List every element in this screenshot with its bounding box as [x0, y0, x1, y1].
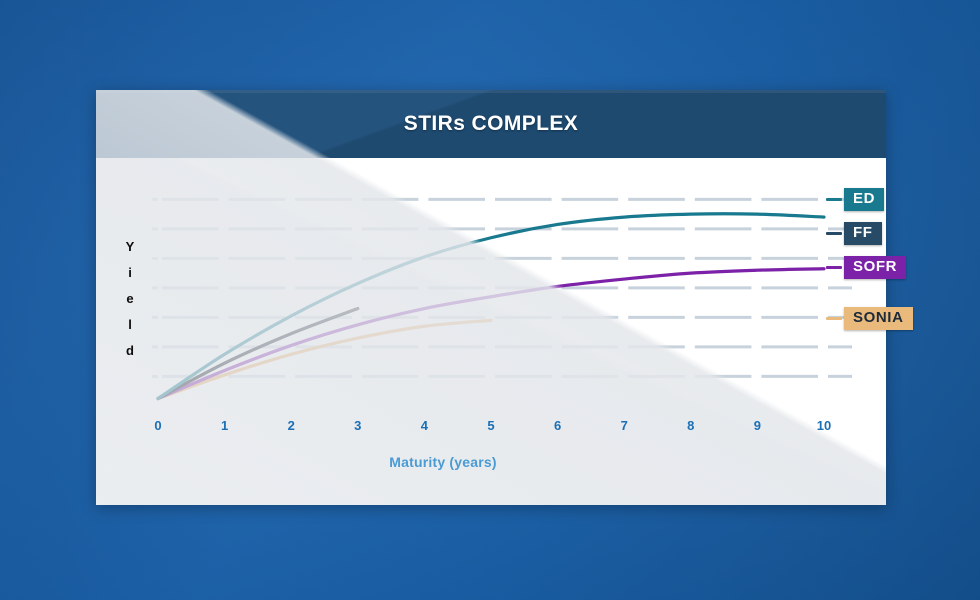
legend-swatch-sonia [826, 317, 842, 320]
x-tick-4: 4 [421, 418, 428, 433]
legend-swatch-ff [826, 232, 842, 235]
legend-item-ff[interactable]: FF [826, 222, 882, 245]
series-lines [158, 214, 824, 399]
legend-item-sofr[interactable]: SOFR [826, 256, 906, 279]
legend-label-sonia: SONIA [844, 307, 913, 330]
series-line-ed [158, 214, 824, 399]
y-axis-letter-4: d [126, 344, 134, 357]
y-axis-letter-3: l [128, 318, 132, 331]
legend-item-ed[interactable]: ED [826, 188, 884, 211]
legend-label-ed: ED [844, 188, 884, 211]
x-tick-8: 8 [687, 418, 694, 433]
x-tick-1: 1 [221, 418, 228, 433]
chart-card: STIRs COMPLEX [96, 90, 886, 505]
legend-label-sofr: SOFR [844, 256, 906, 279]
legend-item-sonia[interactable]: SONIA [826, 307, 913, 330]
y-axis-letter-1: i [128, 266, 132, 279]
x-tick-3: 3 [354, 418, 361, 433]
legend-swatch-sofr [826, 266, 842, 269]
x-axis-tick-labels: 012345678910 [0, 418, 980, 436]
yield-curve-chart [96, 158, 886, 505]
x-tick-5: 5 [487, 418, 494, 433]
x-tick-0: 0 [154, 418, 161, 433]
legend-label-ff: FF [844, 222, 882, 245]
y-axis-letter-0: Y [126, 240, 135, 253]
x-tick-6: 6 [554, 418, 561, 433]
card-header: STIRs COMPLEX [96, 90, 886, 158]
page-title: STIRs COMPLEX [404, 112, 578, 136]
x-tick-9: 9 [754, 418, 761, 433]
legend-swatch-ed [826, 198, 842, 201]
x-tick-10: 10 [817, 418, 831, 433]
x-tick-2: 2 [288, 418, 295, 433]
y-axis-title: Yield [118, 240, 142, 357]
x-axis-title: Maturity (years) [0, 454, 886, 470]
x-tick-7: 7 [621, 418, 628, 433]
y-axis-letter-2: e [126, 292, 133, 305]
series-line-sonia [158, 320, 491, 398]
plot-area [96, 158, 886, 505]
